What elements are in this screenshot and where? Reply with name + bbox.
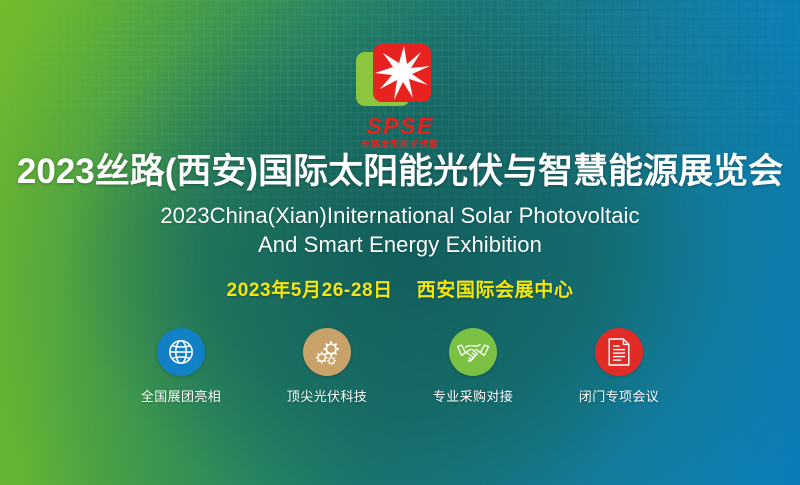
gears-icon	[312, 337, 343, 368]
logo-red-square	[373, 44, 431, 102]
feature-item-national-pavilions[interactable]: 全国展团亮相	[136, 328, 226, 405]
feature-item-closed-door-meetings[interactable]: 闭门专项会议	[574, 328, 664, 405]
feature-icon-circle	[157, 328, 205, 376]
feature-item-top-pv-technology[interactable]: 顶尖光伏科技	[282, 328, 372, 405]
feature-label: 专业采购对接	[433, 386, 513, 405]
logo-subtext: 丝路太阳能光伏展	[361, 140, 439, 149]
feature-icon-circle	[595, 328, 643, 376]
feature-label: 顶尖光伏科技	[287, 386, 367, 405]
logo-wordmark: SPSE	[366, 115, 433, 138]
feature-label: 闭门专项会议	[579, 386, 659, 405]
globe-icon	[166, 337, 196, 367]
document-icon	[606, 337, 632, 367]
spse-logo: SPSE 丝路太阳能光伏展	[0, 44, 800, 149]
title-english-line1: 2023China(Xian)Initernational Solar Phot…	[0, 201, 800, 230]
title-english: 2023China(Xian)Initernational Solar Phot…	[0, 201, 800, 260]
starburst-icon	[373, 44, 431, 102]
event-datebar: 2023年5月26-28日 西安国际会展中心	[0, 275, 800, 302]
event-venue: 西安国际会展中心	[417, 280, 574, 301]
feature-item-professional-procurement[interactable]: 专业采购对接	[428, 328, 518, 405]
feature-icon-circle	[449, 328, 497, 376]
logo-mark	[356, 44, 444, 112]
feature-label: 全国展团亮相	[141, 386, 221, 405]
exhibition-poster: SPSE 丝路太阳能光伏展 2023丝路(西安)国际太阳能光伏与智慧能源展览会 …	[0, 0, 800, 485]
feature-list: 全国展团亮相 顶尖光伏科技	[0, 328, 800, 405]
title-english-line2: And Smart Energy Exhibition	[0, 230, 800, 259]
handshake-icon	[456, 339, 490, 365]
title-chinese: 2023丝路(西安)国际太阳能光伏与智慧能源展览会	[0, 152, 800, 192]
poster-content: SPSE 丝路太阳能光伏展 2023丝路(西安)国际太阳能光伏与智慧能源展览会 …	[0, 0, 800, 485]
feature-icon-circle	[303, 328, 351, 376]
event-date: 2023年5月26-28日	[227, 280, 393, 301]
